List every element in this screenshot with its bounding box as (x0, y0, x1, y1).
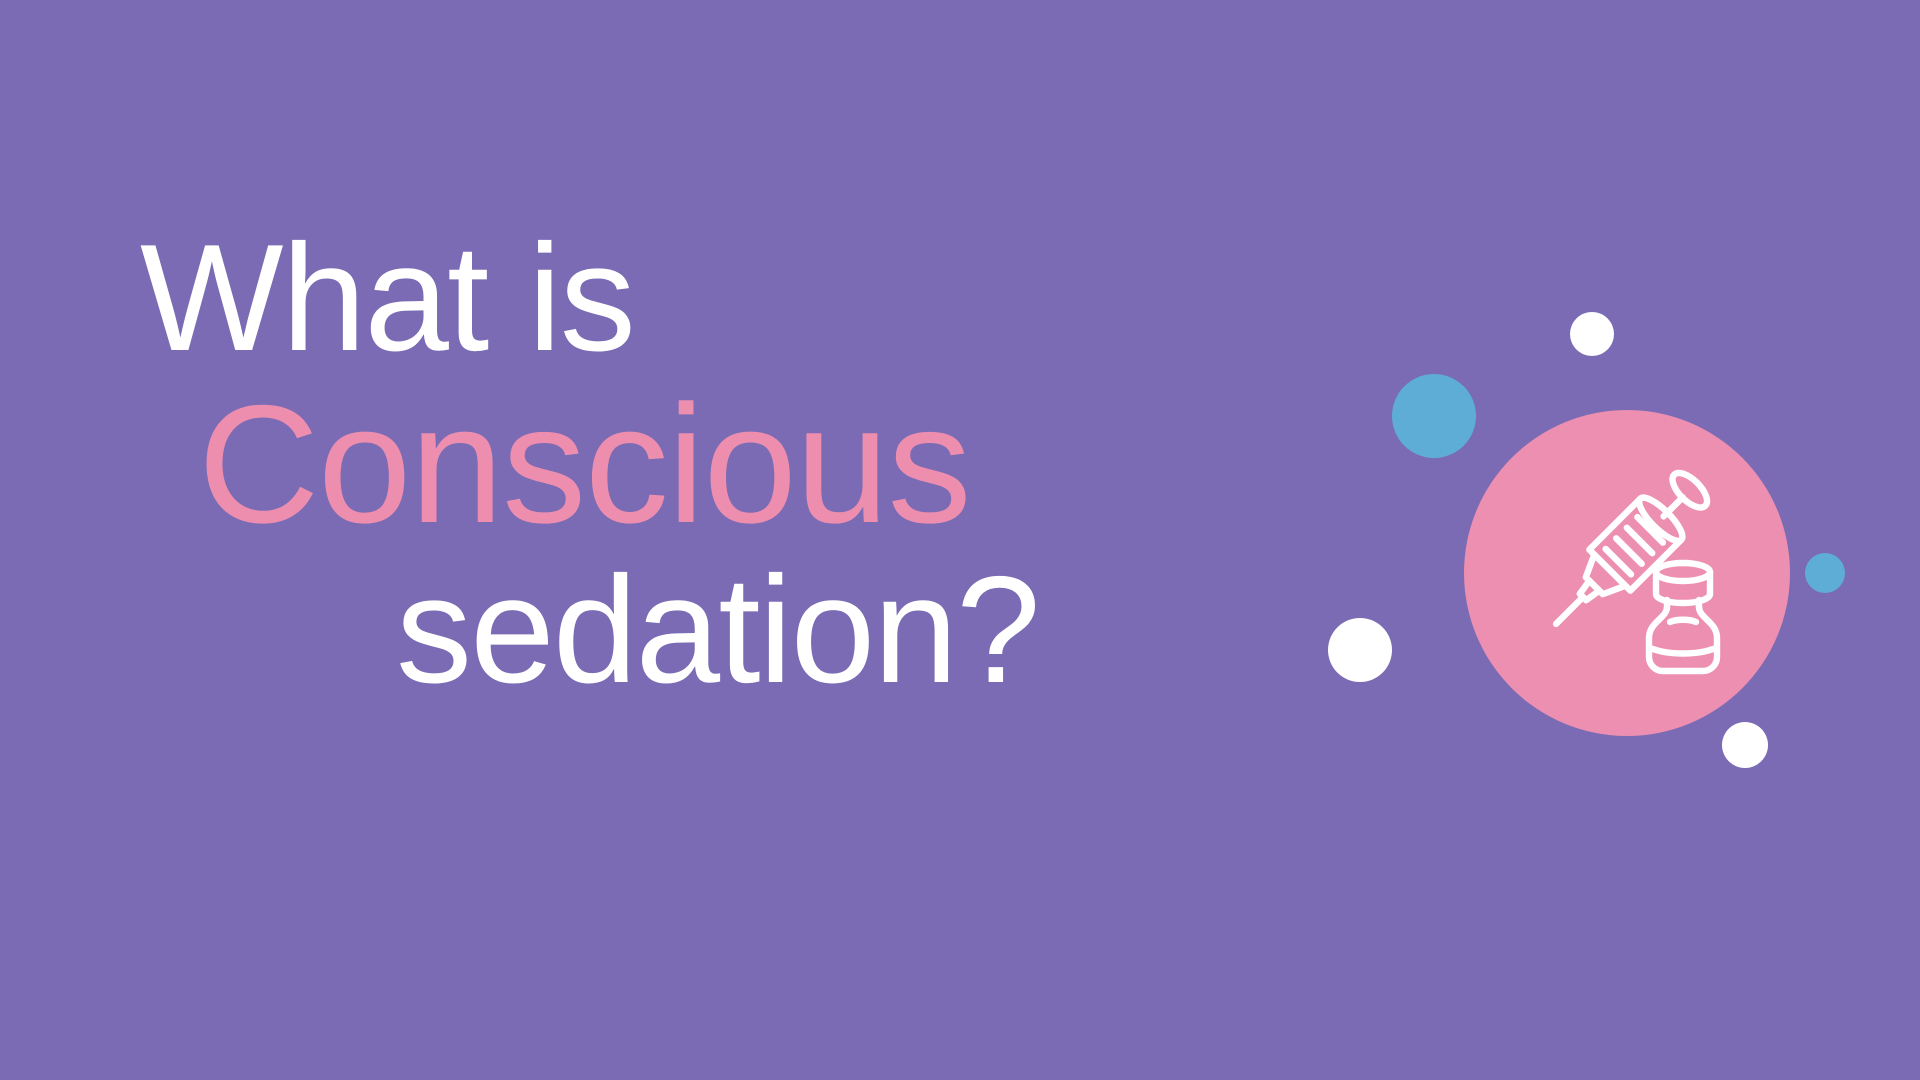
decorative-graphic-cluster (1300, 300, 1920, 820)
slide-canvas: What is Conscious sedation? (0, 0, 1920, 1080)
blue-circle-small-icon (1805, 553, 1845, 593)
headline-line-1: What is (140, 222, 634, 374)
headline-line-3: sedation? (396, 554, 1039, 706)
blue-circle-large-icon (1392, 374, 1476, 458)
white-circle-left-icon (1328, 618, 1392, 682)
page-title: What is Conscious sedation? (0, 222, 1200, 782)
white-circle-top-icon (1570, 312, 1614, 356)
headline-line-2-highlight: Conscious (198, 380, 970, 548)
syringe-vial-icon (1504, 450, 1750, 696)
white-circle-bottom-icon (1722, 722, 1768, 768)
